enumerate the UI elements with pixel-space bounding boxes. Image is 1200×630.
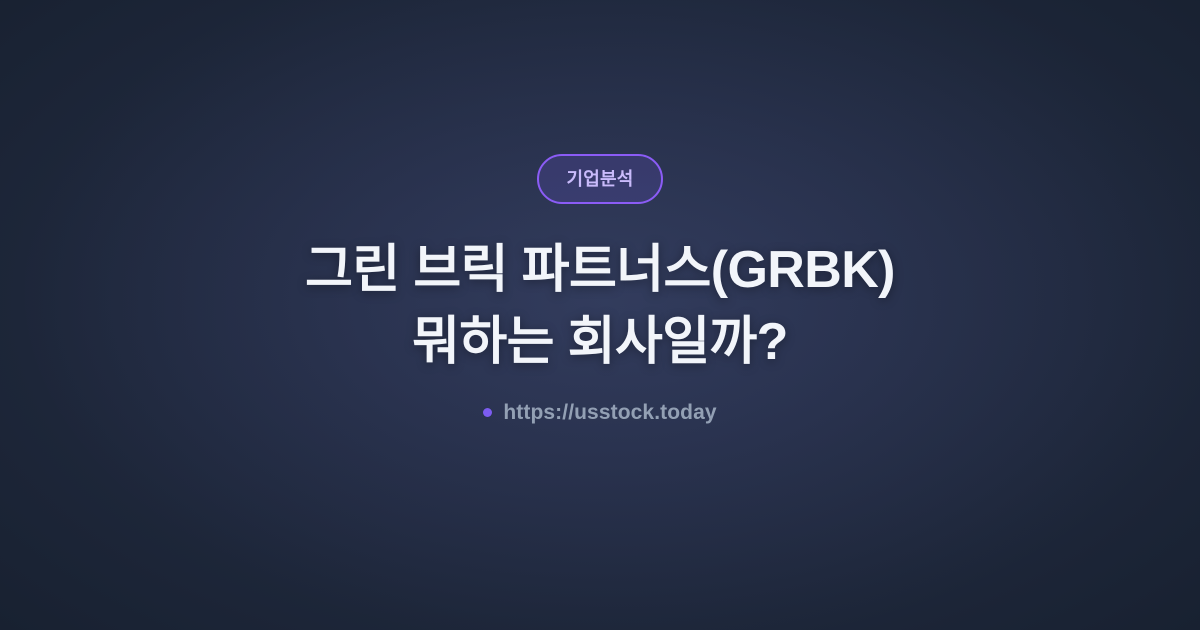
page-title: 그린 브릭 파트너스(GRBK) 뭐하는 회사일까? bbox=[305, 234, 895, 378]
title-line-1: 그린 브릭 파트너스(GRBK) bbox=[305, 234, 895, 306]
card-content: 기업분석 그린 브릭 파트너스(GRBK) 뭐하는 회사일까? https://… bbox=[0, 154, 1200, 477]
site-url-label: https://usstock.today bbox=[503, 402, 716, 423]
category-badge: 기업분석 bbox=[537, 154, 662, 204]
site-url-row: https://usstock.today bbox=[483, 402, 716, 423]
title-line-2: 뭐하는 회사일까? bbox=[305, 306, 895, 378]
og-share-card: 기업분석 그린 브릭 파트너스(GRBK) 뭐하는 회사일까? https://… bbox=[0, 0, 1200, 630]
bullet-dot-icon bbox=[483, 408, 492, 417]
